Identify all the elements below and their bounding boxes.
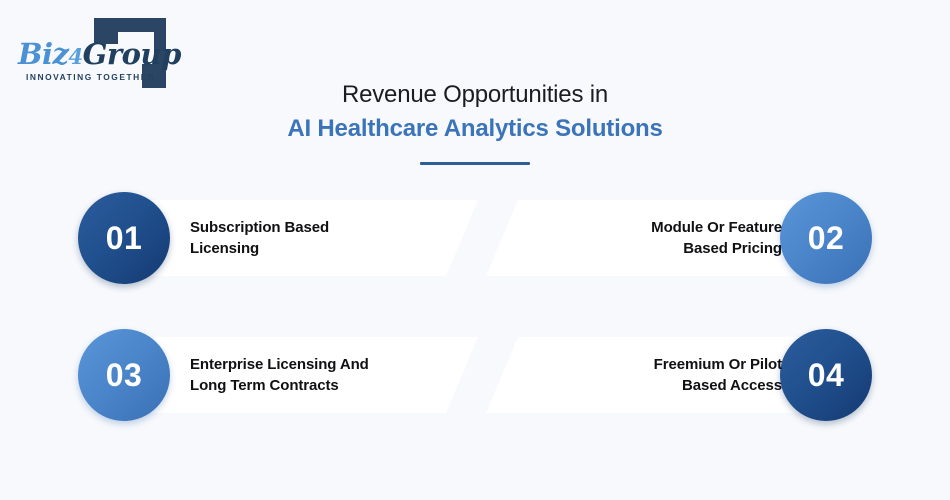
opportunity-card-02[interactable]: 02 Module Or Feature Based Pricing: [472, 192, 872, 284]
logo-text-four: 4: [69, 44, 83, 69]
card-number-badge: 02: [780, 192, 872, 284]
card-label-line1: Module Or Feature: [651, 217, 782, 238]
card-label-line2: Licensing: [190, 238, 259, 259]
grid-row-1: 01 Subscription Based Licensing 02 Modul…: [0, 192, 950, 284]
page-heading: Revenue Opportunities in AI Healthcare A…: [0, 80, 950, 165]
grid-row-2: 03 Enterprise Licensing And Long Term Co…: [0, 329, 950, 421]
card-label: Enterprise Licensing And Long Term Contr…: [190, 337, 440, 413]
card-label-line2: Based Access: [682, 375, 782, 396]
heading-line-accent: AI Healthcare Analytics Solutions: [0, 114, 950, 144]
card-label: Subscription Based Licensing: [190, 200, 440, 276]
card-number-badge: 01: [78, 192, 170, 284]
logo-text-group: Group: [83, 37, 181, 71]
card-label-line1: Enterprise Licensing And: [190, 354, 369, 375]
card-number-badge: 03: [78, 329, 170, 421]
opportunity-grid: 01 Subscription Based Licensing 02 Modul…: [0, 192, 950, 466]
heading-divider: [420, 162, 530, 165]
card-label: Freemium Or Pilot Based Access: [532, 337, 782, 413]
card-label-line1: Freemium Or Pilot: [654, 354, 782, 375]
card-number-badge: 04: [780, 329, 872, 421]
card-label: Module Or Feature Based Pricing: [532, 200, 782, 276]
logo-wordmark: Biz4Group: [18, 36, 163, 72]
card-label-line2: Based Pricing: [683, 238, 782, 259]
heading-line-primary: Revenue Opportunities in: [0, 80, 950, 110]
card-label-line1: Subscription Based: [190, 217, 329, 238]
logo-text-biz: Biz: [18, 37, 69, 71]
opportunity-card-03[interactable]: 03 Enterprise Licensing And Long Term Co…: [78, 329, 478, 421]
opportunity-card-01[interactable]: 01 Subscription Based Licensing: [78, 192, 478, 284]
opportunity-card-04[interactable]: 04 Freemium Or Pilot Based Access: [472, 329, 872, 421]
card-label-line2: Long Term Contracts: [190, 375, 339, 396]
brand-logo: Biz4Group INNOVATING TOGETHER: [18, 16, 178, 90]
